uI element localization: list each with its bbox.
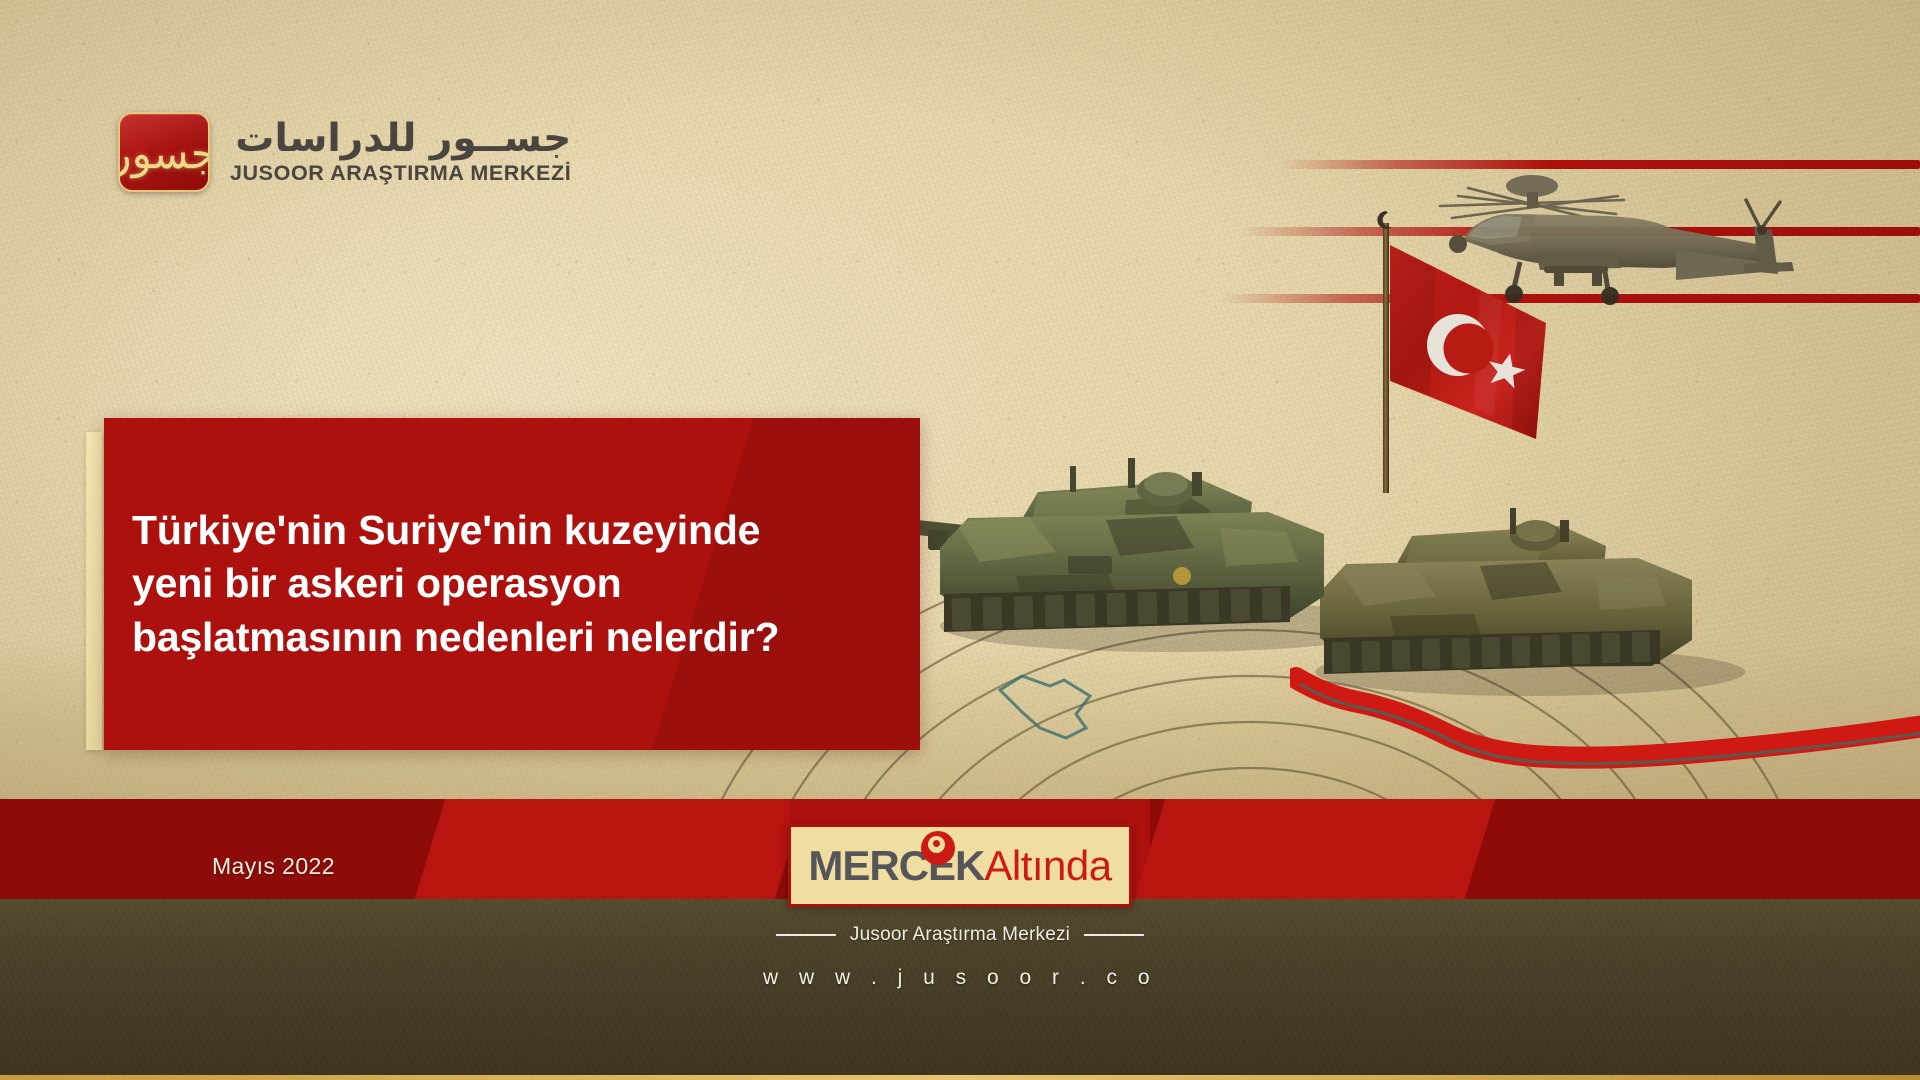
footer-band-segment-left bbox=[409, 799, 812, 899]
title-accent-strip bbox=[86, 432, 102, 750]
poster-canvas: جسور جســور للدراسات JUSOOR ARAŞTIRMA ME… bbox=[0, 0, 1920, 1080]
rule-left-icon bbox=[776, 934, 836, 936]
footer-band-segment-right bbox=[1129, 799, 1502, 899]
program-logo-plate[interactable]: MERCEK Altında bbox=[788, 824, 1132, 907]
footer-band-segment-far-right bbox=[1459, 799, 1920, 899]
headline-line-2: yeni bir askeri operasyon bbox=[132, 557, 779, 610]
page-title: Türkiye'nin Suriye'nin kuzeyinde yeni bi… bbox=[104, 504, 805, 664]
footer-gold-rule bbox=[0, 1075, 1920, 1080]
speed-line-1 bbox=[1280, 160, 1920, 169]
red-border-line bbox=[1290, 660, 1920, 800]
program-name-primary: MERCEK bbox=[808, 845, 984, 887]
brand-logo[interactable]: جسور جســور للدراسات JUSOOR ARAŞTIRMA ME… bbox=[118, 112, 571, 192]
rule-right-icon bbox=[1084, 934, 1144, 936]
brand-name-latin: JUSOOR ARAŞTIRMA MERKEZİ bbox=[230, 162, 571, 185]
footer-subtitle: Jusoor Araştırma Merkezi bbox=[850, 924, 1070, 946]
website-url[interactable]: w w w . j u s o o r . c o bbox=[763, 966, 1157, 990]
headline-line-3: başlatmasının nedenleri nelerdir? bbox=[132, 611, 779, 664]
attack-helicopter bbox=[1428, 170, 1798, 330]
program-wordmark: MERCEK Altında bbox=[808, 845, 1111, 887]
headline-panel: Türkiye'nin Suriye'nin kuzeyinde yeni bi… bbox=[104, 418, 920, 750]
brand-badge-icon: جسور bbox=[118, 112, 210, 192]
brand-wordmark: جســور للدراسات JUSOOR ARAŞTIRMA MERKEZİ bbox=[230, 119, 571, 185]
lens-icon bbox=[921, 831, 955, 865]
footer-subtitle-row: Jusoor Araştırma Merkezi bbox=[776, 924, 1144, 946]
program-name-secondary: Altında bbox=[984, 845, 1111, 887]
arabic-calligraphy-glyph: جسور bbox=[118, 133, 210, 175]
brand-name-arabic: جســور للدراسات bbox=[230, 119, 571, 160]
publication-date: Mayıs 2022 bbox=[212, 853, 335, 880]
headline-line-1: Türkiye'nin Suriye'nin kuzeyinde bbox=[132, 504, 779, 557]
